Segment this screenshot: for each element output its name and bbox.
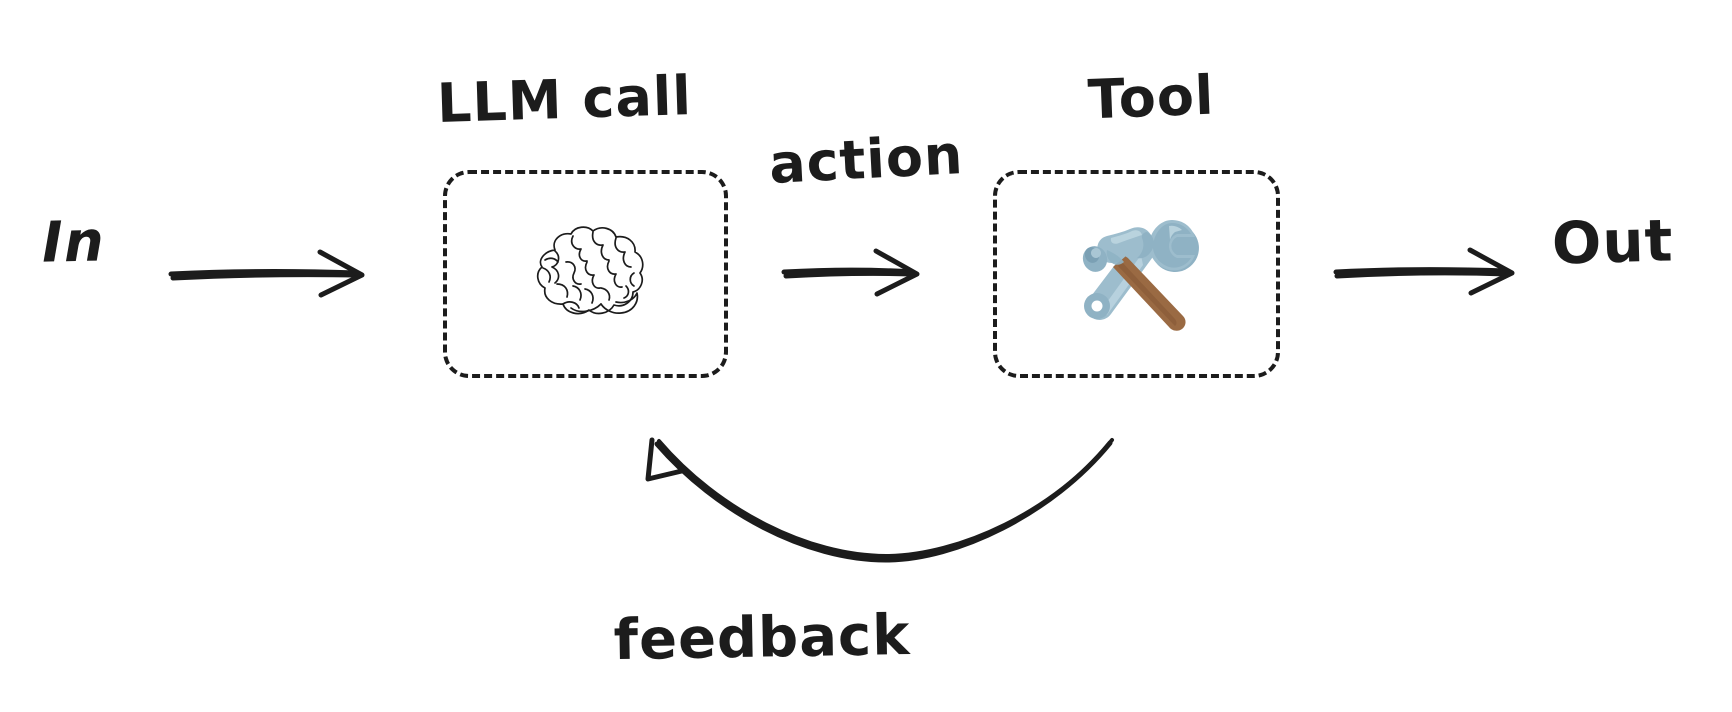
brain-icon bbox=[521, 220, 651, 328]
edge-in-to-llm bbox=[171, 252, 362, 295]
edge-tool-to-out bbox=[1336, 250, 1512, 293]
edge-llm-to-tool bbox=[784, 251, 917, 294]
diagram-canvas: .ink { stroke:#1c1c1c; fill:none; stroke… bbox=[0, 0, 1732, 712]
tool-node-label: Tool bbox=[1087, 64, 1216, 132]
input-label: In bbox=[41, 209, 105, 275]
tool-node[interactable] bbox=[993, 170, 1280, 378]
feedback-edge-label: feedback bbox=[613, 603, 911, 673]
llm-call-node-label: LLM call bbox=[436, 64, 693, 135]
action-edge-label: action bbox=[767, 123, 964, 196]
output-label: Out bbox=[1551, 206, 1674, 277]
llm-call-node[interactable] bbox=[443, 170, 728, 378]
hammer-and-wrench-icon bbox=[1071, 210, 1203, 338]
edge-feedback bbox=[648, 440, 1112, 560]
